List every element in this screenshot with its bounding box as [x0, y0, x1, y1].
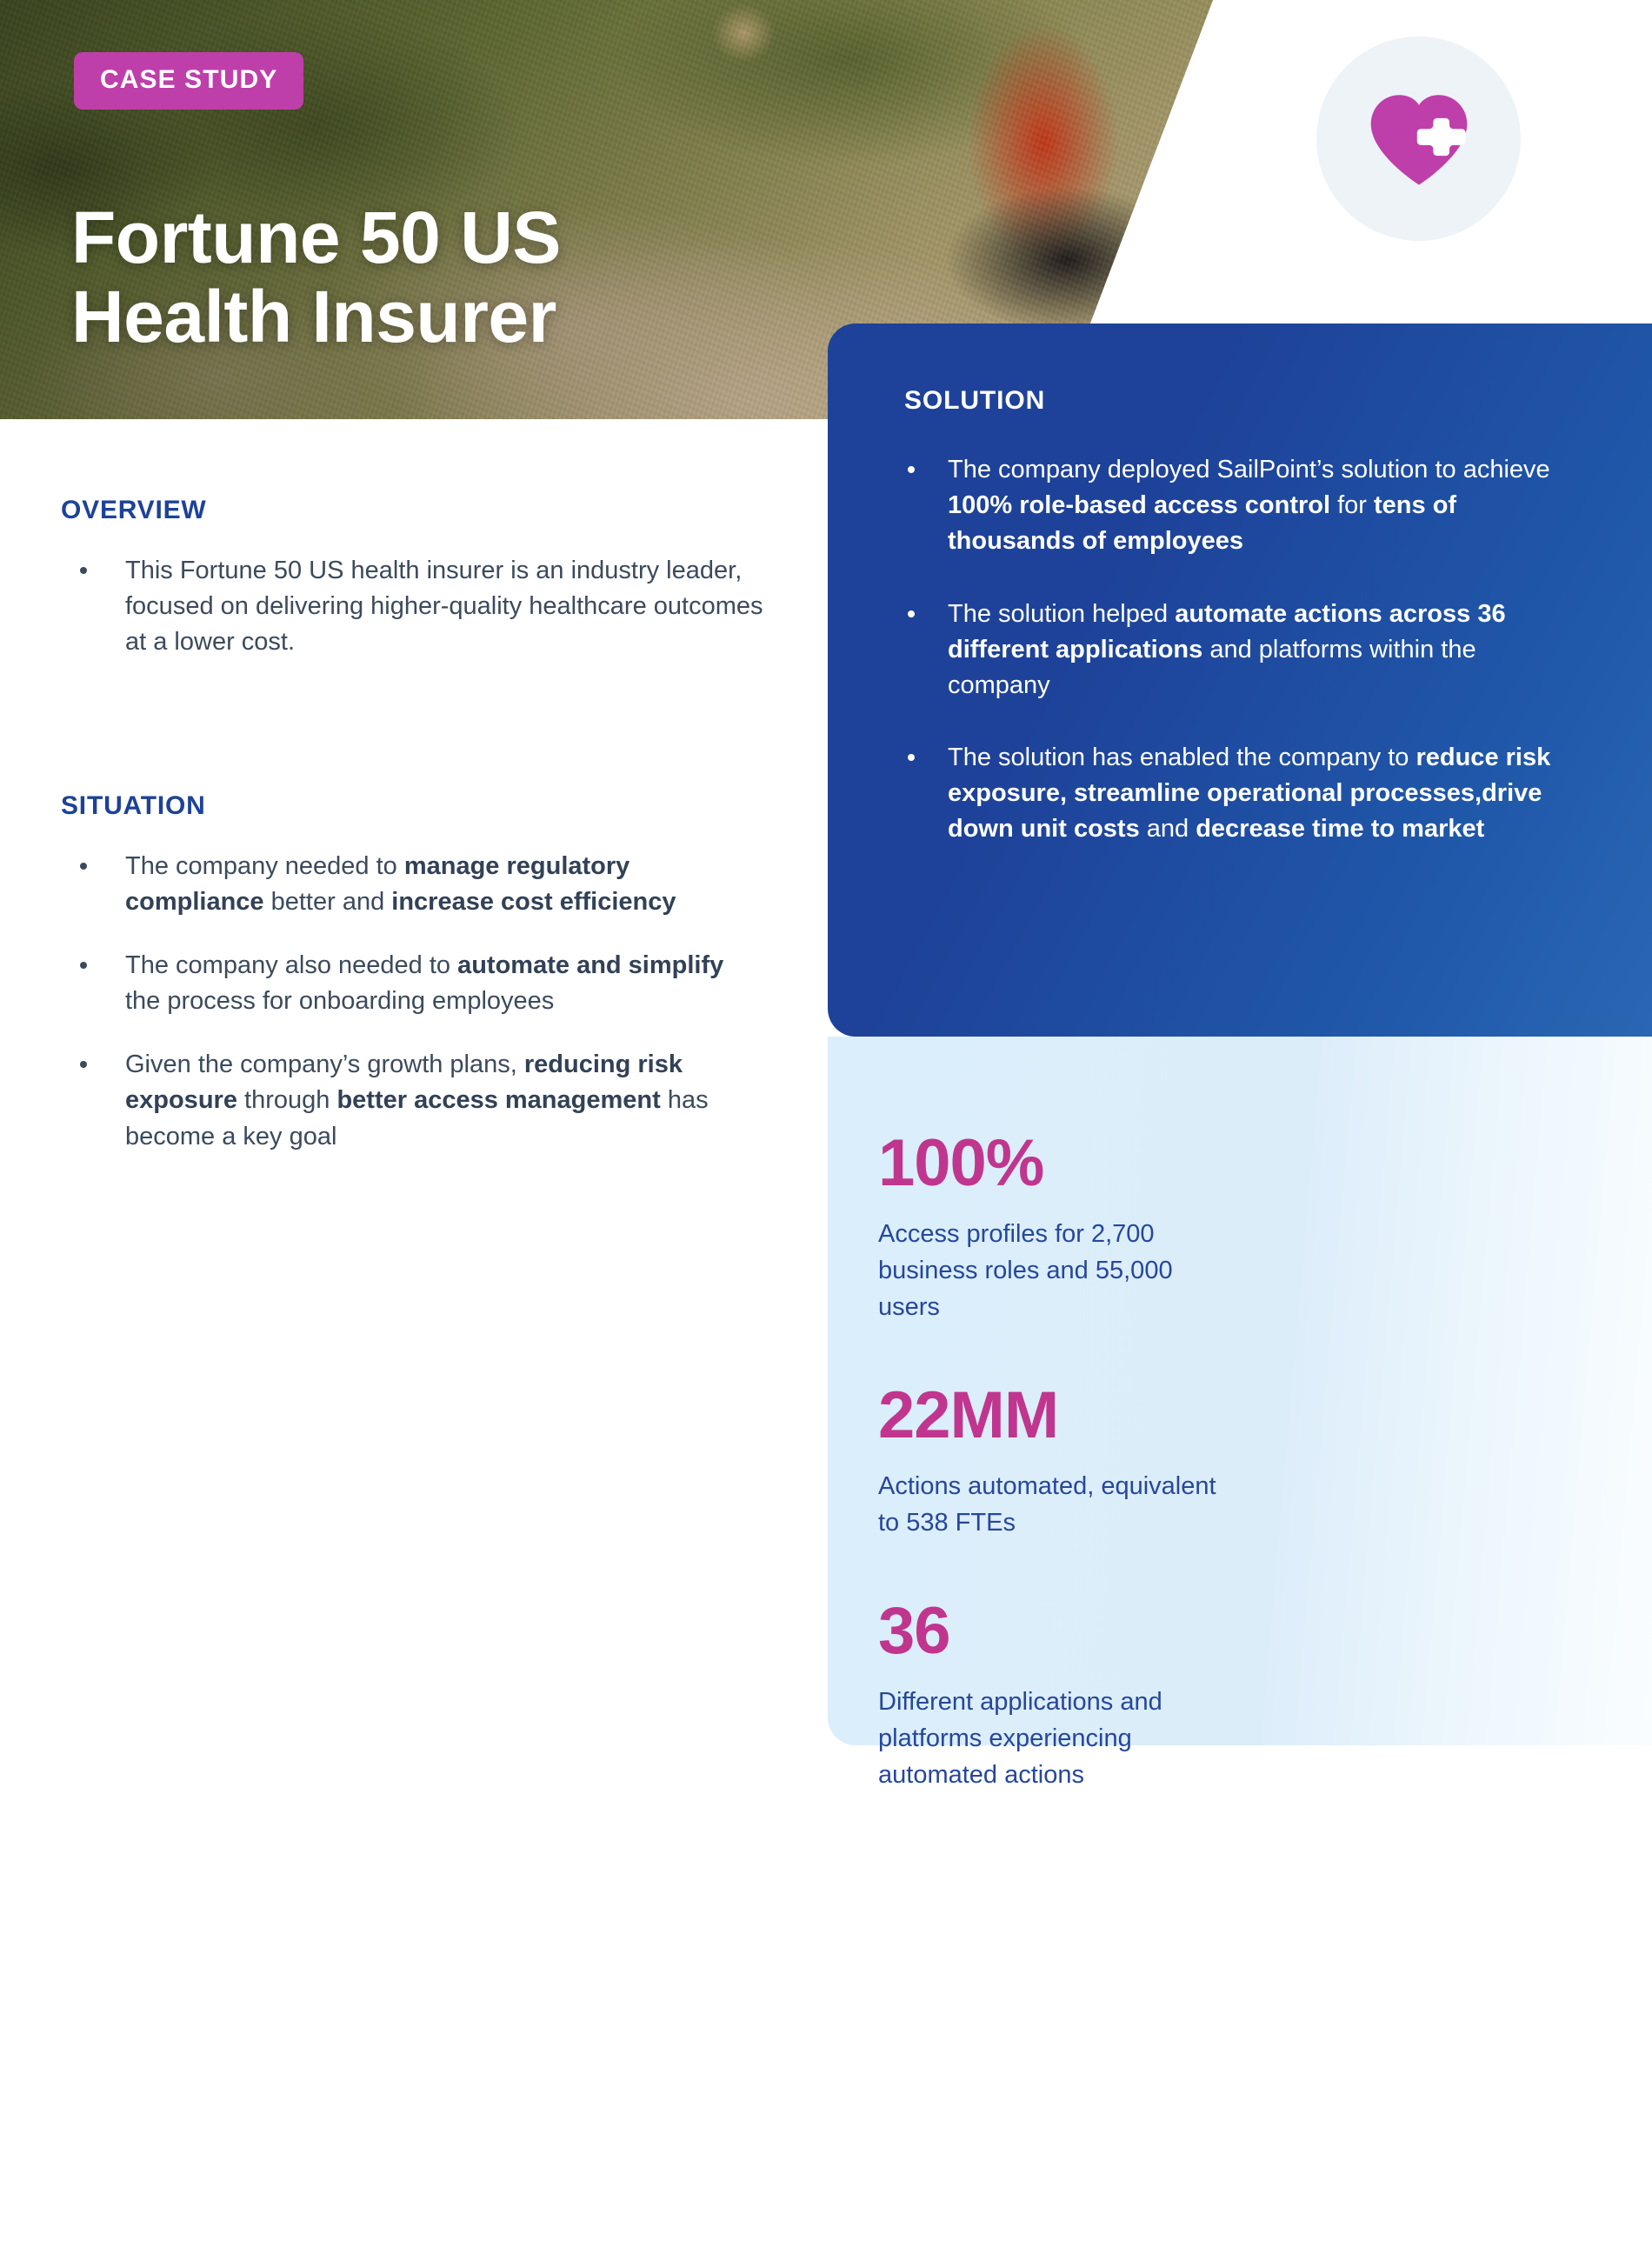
stat-value: 22MM — [878, 1383, 1278, 1449]
bullet-text: the process for onboarding employees — [125, 987, 554, 1015]
page-title-line-2: Health Insurer — [71, 277, 819, 357]
bullet-text: Given the company’s growth plans, — [125, 1050, 524, 1078]
bullet-item: The company deployed SailPoint’s solutio… — [904, 452, 1575, 560]
bullet-item: The solution helped automate actions acr… — [904, 597, 1575, 704]
stats-panel: 100%Access profiles for 2,700 business r… — [828, 1037, 1652, 1745]
bullet-emphasis: automate and simplify — [457, 951, 723, 979]
stat-label: Different applications and platforms exp… — [878, 1684, 1226, 1793]
bullet-text: for — [1330, 491, 1374, 519]
heart-plus-icon-circle — [1316, 37, 1521, 241]
bullet-dot-icon — [908, 466, 915, 473]
stat-card: 100%Access profiles for 2,700 business r… — [878, 1130, 1278, 1325]
bullet-emphasis: increase cost efficiency — [391, 888, 676, 916]
bullet-emphasis: decrease time to market — [1196, 815, 1484, 843]
solution-bullet-list: The company deployed SailPoint’s solutio… — [904, 452, 1575, 848]
bullet-text: The company deployed SailPoint’s solutio… — [948, 456, 1550, 484]
bullet-item: Given the company’s growth plans, reduci… — [61, 1047, 765, 1155]
bullet-dot-icon — [908, 754, 915, 761]
case-study-badge: CASE STUDY — [74, 52, 303, 110]
overview-bullet-list: This Fortune 50 US health insurer is an … — [61, 553, 765, 661]
bullet-text: The company also needed to — [125, 951, 457, 979]
bullet-emphasis: 100% role-based access control — [948, 491, 1330, 519]
heart-plus-icon — [1368, 91, 1470, 187]
bullet-text: The solution has enabled the company to — [948, 744, 1416, 771]
bullet-text: better and — [264, 888, 392, 916]
bullet-text: through — [237, 1086, 336, 1114]
bullet-item: The solution has enabled the company to … — [904, 740, 1575, 848]
bullet-item: The company needed to manage regulatory … — [61, 849, 765, 920]
page-title-line-1: Fortune 50 US — [71, 198, 819, 277]
solution-panel: SOLUTION The company deployed SailPoint’… — [828, 323, 1652, 1037]
situation-heading: SITUATION — [61, 791, 765, 821]
bullet-dot-icon — [908, 610, 915, 617]
solution-heading: SOLUTION — [904, 386, 1575, 416]
stat-value: 100% — [878, 1130, 1278, 1197]
bullet-item: The company also needed to automate and … — [61, 948, 765, 1019]
page-title: Fortune 50 US Health Insurer — [71, 198, 819, 356]
stat-value: 36 — [878, 1598, 1278, 1664]
stat-label: Actions automated, equivalent to 538 FTE… — [878, 1468, 1226, 1541]
bullet-text: This Fortune 50 US health insurer is an … — [125, 557, 763, 656]
overview-section: OVERVIEW This Fortune 50 US health insur… — [0, 419, 826, 661]
overview-heading: OVERVIEW — [61, 496, 765, 525]
situation-bullet-list: The company needed to manage regulatory … — [61, 849, 765, 1155]
bullet-text: The solution helped — [948, 600, 1175, 628]
stat-label: Access profiles for 2,700 business roles… — [878, 1216, 1226, 1325]
bullet-text: The company needed to — [125, 852, 404, 880]
bullet-dot-icon — [80, 863, 87, 870]
bullet-emphasis: better access management — [336, 1086, 660, 1114]
situation-section: SITUATION The company needed to manage r… — [0, 661, 826, 1155]
bullet-dot-icon — [80, 1061, 87, 1068]
stat-card: 22MMActions automated, equivalent to 538… — [878, 1383, 1278, 1541]
stat-card: 36Different applications and platforms e… — [878, 1598, 1278, 1793]
bullet-dot-icon — [80, 567, 87, 574]
bullet-item: This Fortune 50 US health insurer is an … — [61, 553, 765, 661]
stats-grid: 100%Access profiles for 2,700 business r… — [878, 1130, 1591, 1851]
left-column: OVERVIEW This Fortune 50 US health insur… — [0, 419, 826, 1155]
bullet-dot-icon — [80, 962, 87, 969]
bullet-text: and — [1140, 815, 1196, 843]
